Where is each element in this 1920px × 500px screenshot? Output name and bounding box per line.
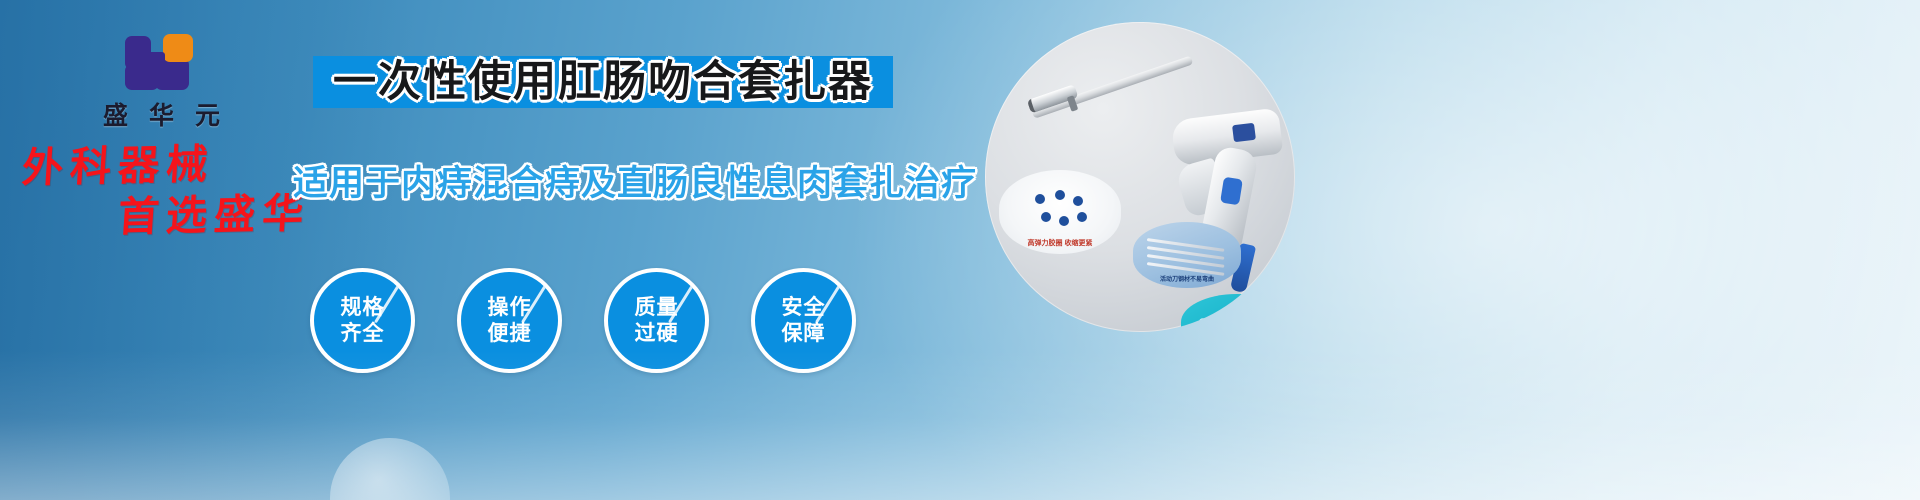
- shenghuayuan-blocks-logo-icon: [119, 26, 205, 92]
- feature-label-line2: 便捷: [488, 321, 532, 347]
- feature-label-line1: 操作: [488, 295, 532, 321]
- calligraphy-line-1: 外科器械: [21, 144, 216, 189]
- stapler-blue-button: [1220, 177, 1243, 206]
- rubber-rings-caption: 高弹力胶圈 收缩更紧: [999, 238, 1121, 248]
- feature-badge-quality[interactable]: 质量 过硬: [604, 268, 709, 373]
- ligation-needles-caption: 活动刀钢材不易弯曲: [1133, 274, 1241, 283]
- stapler-control-panel: [1232, 123, 1256, 143]
- ligation-needles-inset: 活动刀钢材不易弯曲: [1133, 222, 1241, 288]
- feature-label-line2: 齐全: [341, 321, 385, 347]
- feature-badge-operation[interactable]: 操作 便捷: [457, 268, 562, 373]
- brand-logo[interactable]: 盛 华 元: [62, 26, 262, 132]
- rubber-rings-inset: 高弹力胶圈 收缩更紧: [999, 170, 1121, 254]
- brand-name: 盛 华 元: [62, 96, 262, 132]
- ligation-tube-inset: [1181, 294, 1293, 332]
- promo-banner: 盛 华 元 外科器械 首选盛华 一次性使用肛肠吻合套扎器 适用于内痔混合痔及直肠…: [0, 0, 1920, 500]
- feature-badge-specifications[interactable]: 规格 齐全: [310, 268, 415, 373]
- page-title: 一次性使用肛肠吻合套扎器: [313, 52, 893, 112]
- feature-label-line2: 过硬: [635, 321, 679, 347]
- stapler-shaft: [1032, 56, 1194, 119]
- feature-label-line2: 保障: [782, 321, 826, 347]
- page-subtitle: 适用于内痔混合痔及直肠良性息肉套扎治疗: [293, 155, 913, 206]
- feature-label-line1: 质量: [635, 295, 679, 321]
- calligraphy-line-2: 首选盛华: [117, 193, 312, 238]
- feature-badges: 规格 齐全 操作 便捷 质量 过硬 安全 保障: [310, 268, 856, 373]
- feature-badge-safety[interactable]: 安全 保障: [751, 268, 856, 373]
- feature-label-line1: 安全: [782, 295, 826, 321]
- bubble-decor-icon: [330, 438, 450, 500]
- product-photo: 高弹力胶圈 收缩更紧 活动刀钢材不易弯曲: [985, 22, 1295, 332]
- feature-label-line1: 规格: [341, 295, 385, 321]
- bottom-haze: [0, 350, 1920, 500]
